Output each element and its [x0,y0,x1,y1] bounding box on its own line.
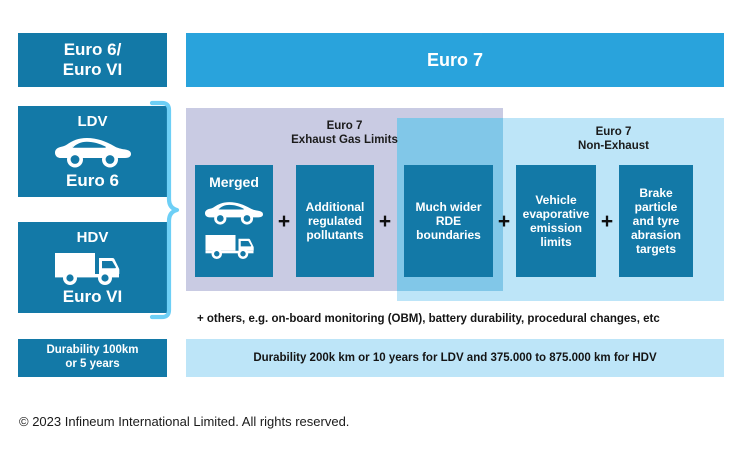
others-note: + others, e.g. on-board monitoring (OBM)… [197,313,660,325]
requirement-brake-tyre-targets-line3: and tyre [633,214,680,228]
requirement-brake-tyre-targets-box: Brake particle and tyre abrasion targets [619,165,693,277]
requirement-evaporative-limits-line4: limits [540,235,571,249]
truck-icon [204,232,264,259]
non-exhaust-group-title-line2: Non-Exhaust [578,140,649,152]
requirement-additional-pollutants-line1: Additional [306,200,365,214]
truck-icon [53,249,133,285]
durability-current-box: Durability 100km or 5 years [18,339,167,377]
requirement-additional-pollutants-box: Additional regulated pollutants [296,165,374,277]
separator-plus-2: + [374,211,396,232]
current-standard-line1: Euro 6/ [64,40,122,60]
requirement-brake-tyre-targets-line1: Brake [639,186,672,200]
non-exhaust-group-title: Euro 7 Non-Exhaust [503,125,724,154]
non-exhaust-group-title-line1: Euro 7 [596,126,632,138]
separator-plus-3: + [493,211,515,232]
exhaust-group-title: Euro 7 Exhaust Gas Limits [186,119,503,148]
requirement-merged-label: Merged [209,174,259,191]
euro7-header-title: Euro 7 [427,50,483,71]
separator-plus-4: + [596,211,618,232]
durability-current-line1: Durability 100km [46,344,138,358]
requirement-evaporative-limits-line1: Vehicle [535,193,576,207]
exhaust-group-title-line2: Exhaust Gas Limits [291,134,398,146]
requirement-rde-boundaries-line1: Much wider [415,200,481,214]
requirement-rde-boundaries-line3: boundaries [416,228,481,242]
separator-plus-2-symbol: + [379,210,391,233]
vehicle-class-ldv-box: LDV Euro 6 [18,106,167,197]
euro7-header-bar: Euro 7 [186,33,724,87]
separator-plus-1: + [273,211,295,232]
vehicle-class-hdv-box: HDV Euro VI [18,222,167,313]
car-icon [205,199,263,225]
requirement-brake-tyre-targets-line2: particle [635,200,678,214]
hdv-standard-label: Euro VI [63,287,123,307]
ldv-class-label: LDV [78,113,108,131]
separator-plus-3-symbol: + [498,210,510,233]
car-icon [55,134,131,168]
requirement-evaporative-limits-line3: emission [530,221,582,235]
separator-plus-1-symbol: + [278,210,290,233]
ldv-standard-label: Euro 6 [66,171,119,191]
requirement-brake-tyre-targets-line4: abrasion [631,228,681,242]
current-standard-box: Euro 6/ Euro VI [18,33,167,87]
requirement-evaporative-limits-line2: evaporative [523,207,590,221]
requirement-rde-boundaries-box: Much wider RDE boundaries [404,165,493,277]
requirement-additional-pollutants-line2: regulated [308,214,362,228]
separator-plus-4-symbol: + [601,210,613,233]
diagram-canvas: Euro 6/ Euro VI LDV Euro 6 HDV [0,0,730,452]
durability-current-line2: or 5 years [65,358,119,372]
durability-banner: Durability 200k km or 10 years for LDV a… [186,339,724,377]
current-standard-line2: Euro VI [63,60,123,80]
requirement-evaporative-limits-box: Vehicle evaporative emission limits [516,165,596,277]
grouping-bracket [148,99,180,321]
requirement-brake-tyre-targets-line5: targets [636,242,676,256]
requirement-rde-boundaries-line2: RDE [436,214,461,228]
copyright-text: © 2023 Infineum International Limited. A… [19,414,349,429]
requirement-merged-box: Merged [195,165,273,277]
exhaust-group-title-line1: Euro 7 [327,120,363,132]
requirement-additional-pollutants-line3: pollutants [306,228,363,242]
hdv-class-label: HDV [77,229,109,247]
durability-banner-text: Durability 200k km or 10 years for LDV a… [253,352,656,364]
